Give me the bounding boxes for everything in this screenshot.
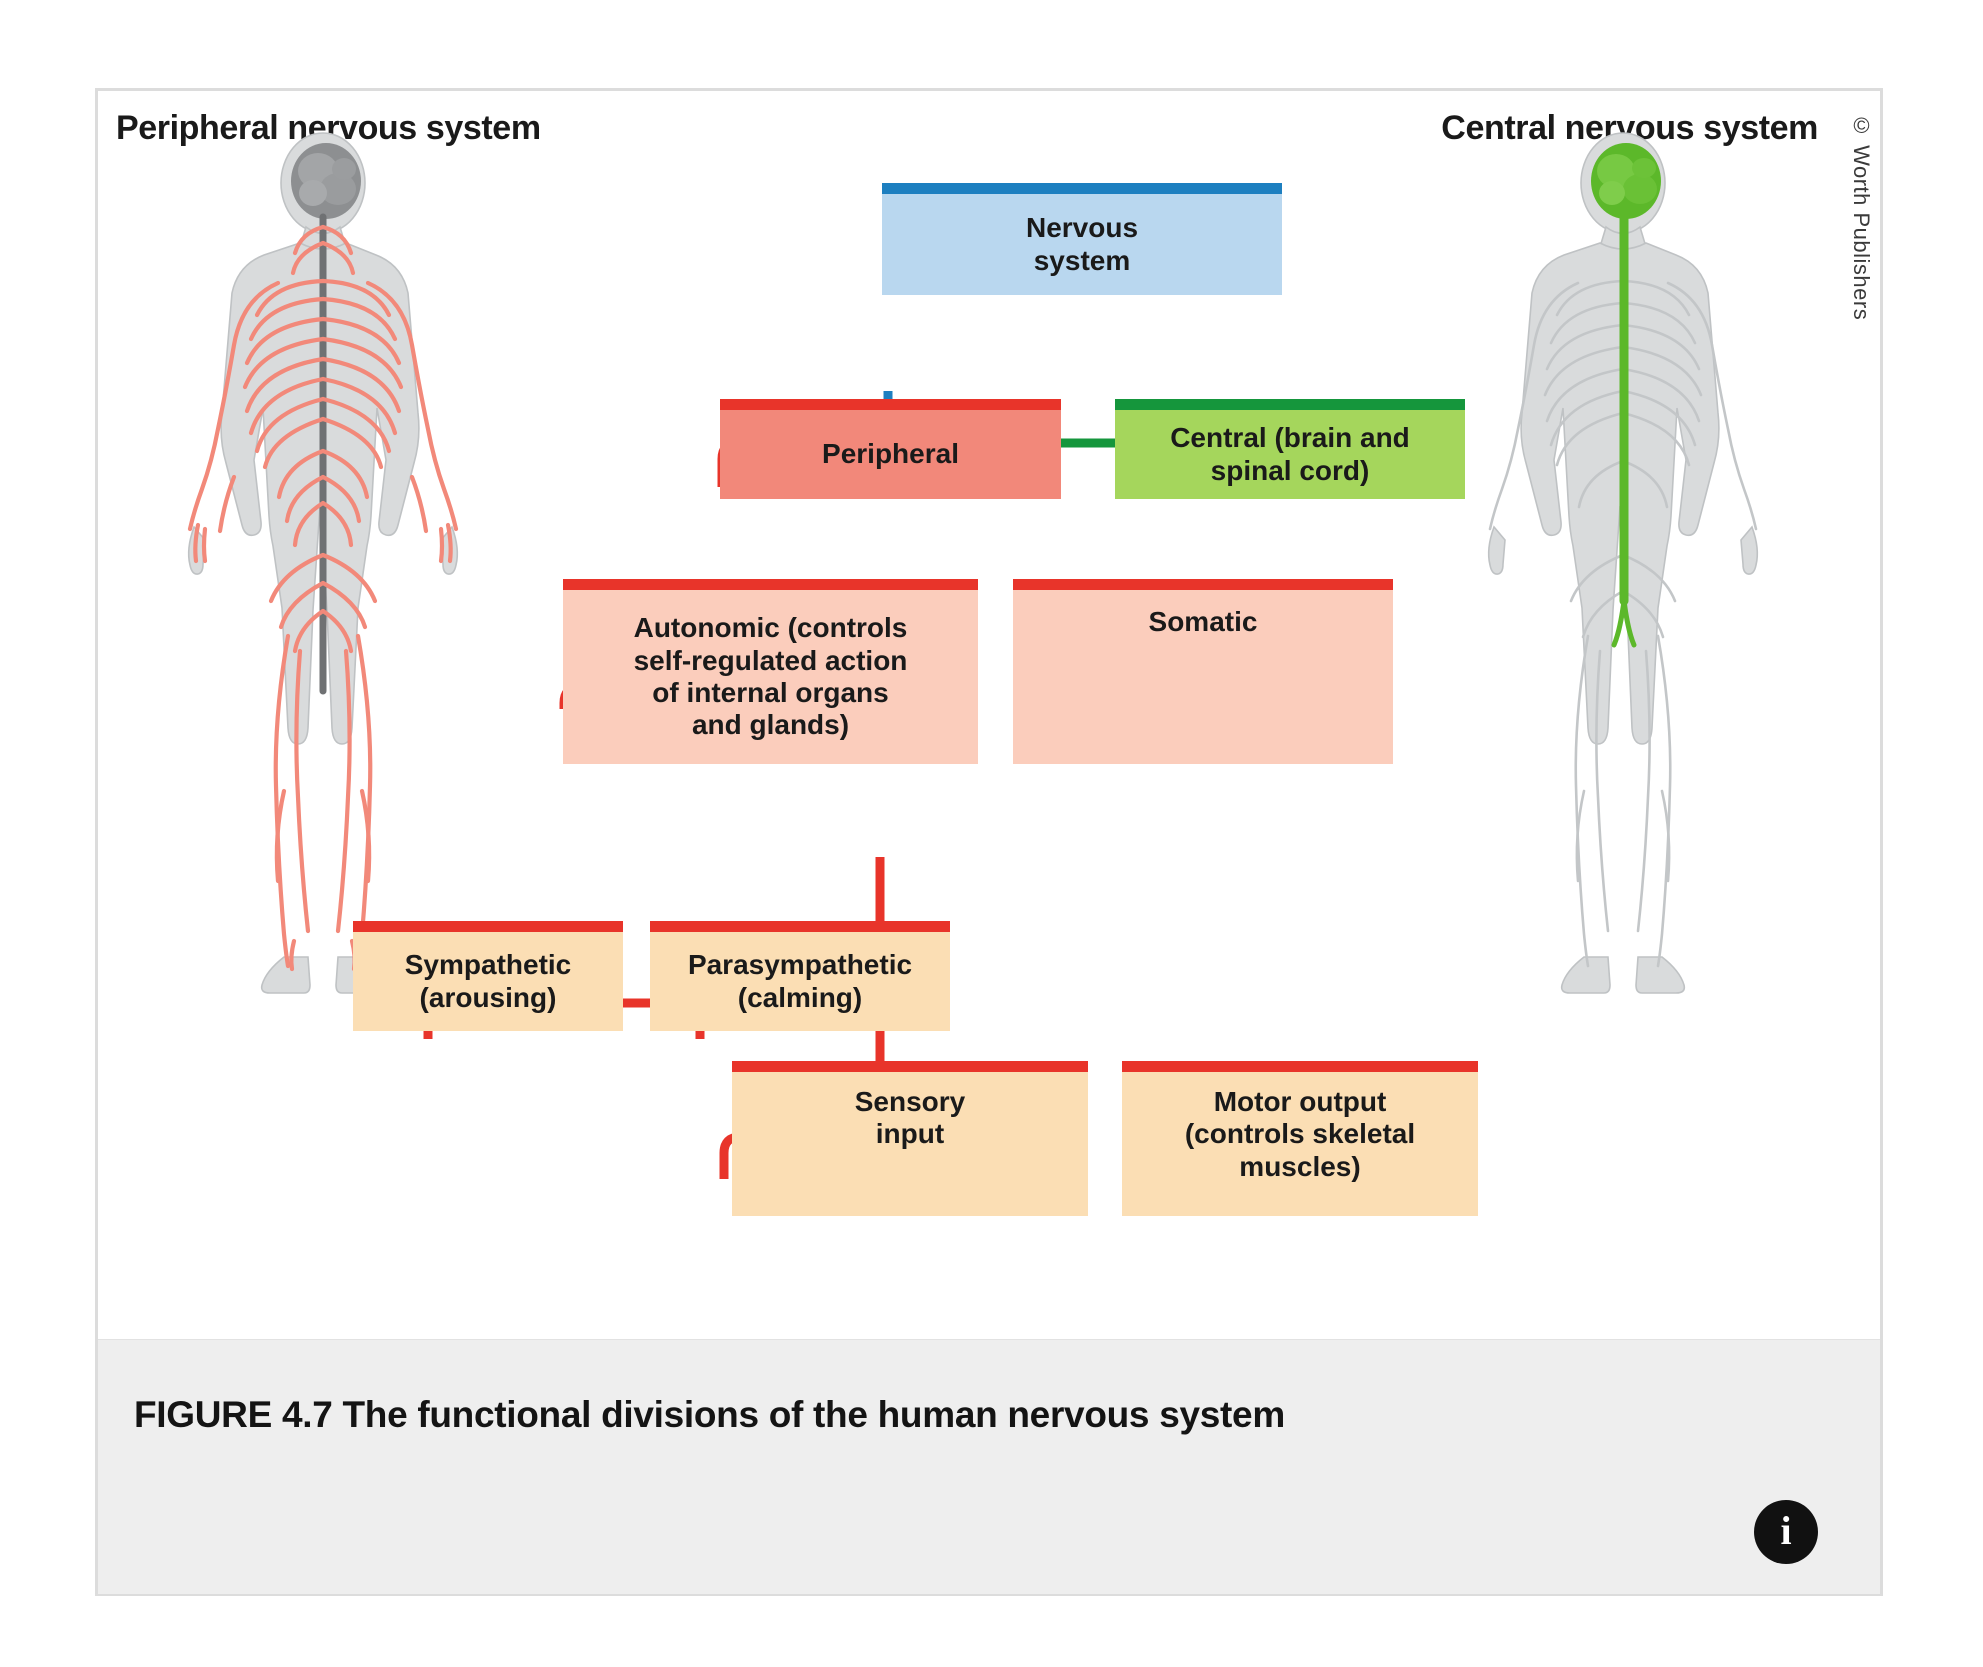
- node-autonomic-label: Autonomic (controlsself-regulated action…: [571, 612, 970, 742]
- node-motor-output-label: Motor output(controls skeletalmuscles): [1130, 1086, 1470, 1183]
- node-nervous-system-label: Nervoussystem: [890, 212, 1274, 277]
- node-central[interactable]: Central (brain andspinal cord): [1115, 399, 1465, 499]
- figure-illustration-area: Peripheral nervous system Central nervou…: [98, 91, 1880, 1339]
- peripheral-nervous-system-body-illustration: [158, 131, 488, 1011]
- node-central-label: Central (brain andspinal cord): [1123, 422, 1457, 487]
- central-nervous-system-body-illustration: [1458, 131, 1788, 1011]
- node-parasympathetic[interactable]: Parasympathetic(calming): [650, 921, 950, 1031]
- node-somatic-label: Somatic: [1021, 606, 1385, 638]
- info-button[interactable]: i: [1754, 1500, 1818, 1564]
- node-sympathetic-label: Sympathetic(arousing): [361, 949, 615, 1014]
- node-peripheral-label: Peripheral: [728, 438, 1053, 470]
- figure-screenshot: Peripheral nervous system Central nervou…: [0, 0, 1983, 1667]
- node-parasympathetic-label: Parasympathetic(calming): [658, 949, 942, 1014]
- figure-card: Peripheral nervous system Central nervou…: [95, 88, 1883, 1596]
- node-sympathetic[interactable]: Sympathetic(arousing): [353, 921, 623, 1031]
- node-sensory-input[interactable]: Sensoryinput: [732, 1061, 1088, 1216]
- node-autonomic[interactable]: Autonomic (controlsself-regulated action…: [563, 579, 978, 764]
- node-peripheral[interactable]: Peripheral: [720, 399, 1061, 499]
- node-nervous-system[interactable]: Nervoussystem: [882, 183, 1282, 295]
- node-motor-output[interactable]: Motor output(controls skeletalmuscles): [1122, 1061, 1478, 1216]
- figure-caption-strip: FIGURE 4.7 The functional divisions of t…: [98, 1339, 1880, 1594]
- info-icon: i: [1780, 1511, 1791, 1551]
- figure-caption: FIGURE 4.7 The functional divisions of t…: [134, 1394, 1285, 1436]
- node-somatic[interactable]: Somatic: [1013, 579, 1393, 764]
- node-sensory-input-label: Sensoryinput: [740, 1086, 1080, 1151]
- copyright-notice: © Worth Publishers: [1848, 113, 1874, 320]
